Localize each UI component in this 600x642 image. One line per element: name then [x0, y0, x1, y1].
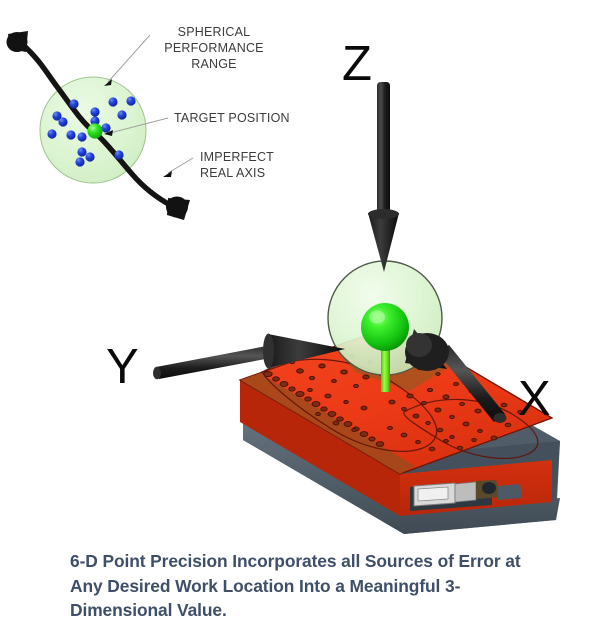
plate-hole	[429, 447, 435, 451]
plate-hole	[444, 440, 449, 443]
plate-hole	[427, 388, 432, 391]
leader-line-imperfect-axis	[168, 158, 193, 173]
plate-hole	[280, 382, 288, 387]
leader-line-spherical-range	[108, 35, 150, 82]
plate-hole	[376, 442, 384, 447]
inset-scatter-point	[77, 132, 86, 141]
axis-label-z: Z	[342, 37, 372, 91]
plate-hole	[332, 379, 337, 382]
plate-hole	[389, 400, 395, 404]
inset-scatter-point	[85, 152, 94, 161]
z-axis-probe	[368, 82, 399, 272]
plate-hole	[422, 401, 427, 404]
plate-hole	[505, 423, 511, 427]
plate-hole	[312, 402, 320, 407]
plate-hole	[463, 422, 469, 426]
inset-scatter-point	[75, 157, 84, 166]
plate-hole	[297, 369, 304, 373]
label-target-position: TARGET POSITION	[174, 111, 290, 125]
technical-illustration: SPHERICAL PERFORMANCE RANGE TARGET POSIT…	[0, 0, 600, 642]
inset-scatter-point	[90, 107, 99, 116]
inset-scatter-point	[114, 150, 123, 159]
plate-hole	[435, 408, 441, 412]
plate-hole	[361, 406, 367, 410]
inset-probe-tip-lower	[166, 197, 190, 221]
inset-scatter-point	[47, 129, 56, 138]
plate-hole	[344, 401, 349, 404]
plate-hole	[296, 391, 304, 396]
inset-scatter-point	[101, 123, 110, 132]
plate-hole	[450, 416, 455, 419]
inset-scatter-point	[108, 97, 117, 106]
plate-hole	[344, 422, 352, 427]
plate-hole	[491, 436, 497, 440]
inset-scatter-point	[117, 110, 126, 119]
plate-hole	[460, 402, 465, 405]
axis-label-y: Y	[106, 340, 139, 394]
inset-scatter-point	[69, 99, 78, 108]
plate-hole	[369, 437, 375, 441]
plate-hole	[273, 377, 280, 381]
plate-hole	[443, 395, 449, 399]
plate-hole	[333, 421, 339, 425]
plate-hole	[388, 426, 393, 429]
plate-hole	[360, 432, 368, 437]
plate-hole	[501, 403, 507, 407]
label-spherical-range-line2: PERFORMANCE	[164, 41, 263, 55]
inset-scatter-point	[126, 96, 135, 105]
plate-hole	[450, 436, 455, 439]
inset-probe-tip-upper	[7, 31, 29, 52]
label-imperfect-axis-line2: REAL AXIS	[200, 166, 265, 180]
plate-hole	[319, 364, 325, 368]
plate-hole	[308, 388, 313, 391]
plate-hole	[472, 439, 477, 442]
plate-hole	[413, 414, 419, 418]
plate-hole	[478, 430, 483, 433]
plate-hole	[416, 441, 421, 444]
figure-canvas: SPHERICAL PERFORMANCE RANGE TARGET POSIT…	[0, 0, 600, 642]
plate-hole	[325, 394, 331, 398]
plate-hole	[337, 417, 344, 421]
plate-hole	[289, 387, 295, 391]
inset-diagram: SPHERICAL PERFORMANCE RANGE TARGET POSIT…	[7, 25, 290, 220]
figure-caption: 6-D Point Precision Incorporates all Sou…	[70, 549, 550, 623]
inset-scatter-point	[66, 130, 75, 139]
inset-scatter-point	[58, 117, 67, 126]
plate-hole	[437, 428, 443, 432]
plate-hole	[407, 394, 413, 398]
plate-hole	[316, 412, 321, 415]
plate-hole	[475, 409, 481, 413]
inset-target-point	[87, 123, 102, 138]
plate-hole	[352, 429, 357, 432]
plate-hole	[264, 371, 272, 376]
target-ball	[361, 303, 409, 351]
plate-hole	[401, 433, 407, 437]
plate-hole	[328, 412, 336, 417]
plate-hole	[321, 407, 327, 411]
plate-hole	[426, 422, 431, 425]
plate-hole	[457, 446, 463, 450]
axis-label-x: X	[518, 372, 551, 426]
plate-hole	[354, 384, 359, 387]
plate-hole	[363, 375, 369, 379]
plate-hole	[309, 376, 314, 379]
inset-scatter-point	[77, 147, 86, 156]
plate-hole	[305, 397, 312, 401]
plate-hole	[402, 407, 407, 410]
label-spherical-range-line1: SPHERICAL	[178, 25, 251, 39]
plate-hole	[436, 373, 440, 376]
label-imperfect-axis-line1: IMPERFECT	[200, 150, 274, 164]
plate-hole	[454, 382, 459, 385]
plate-hole	[341, 370, 348, 374]
label-spherical-range-line3: RANGE	[191, 57, 236, 71]
